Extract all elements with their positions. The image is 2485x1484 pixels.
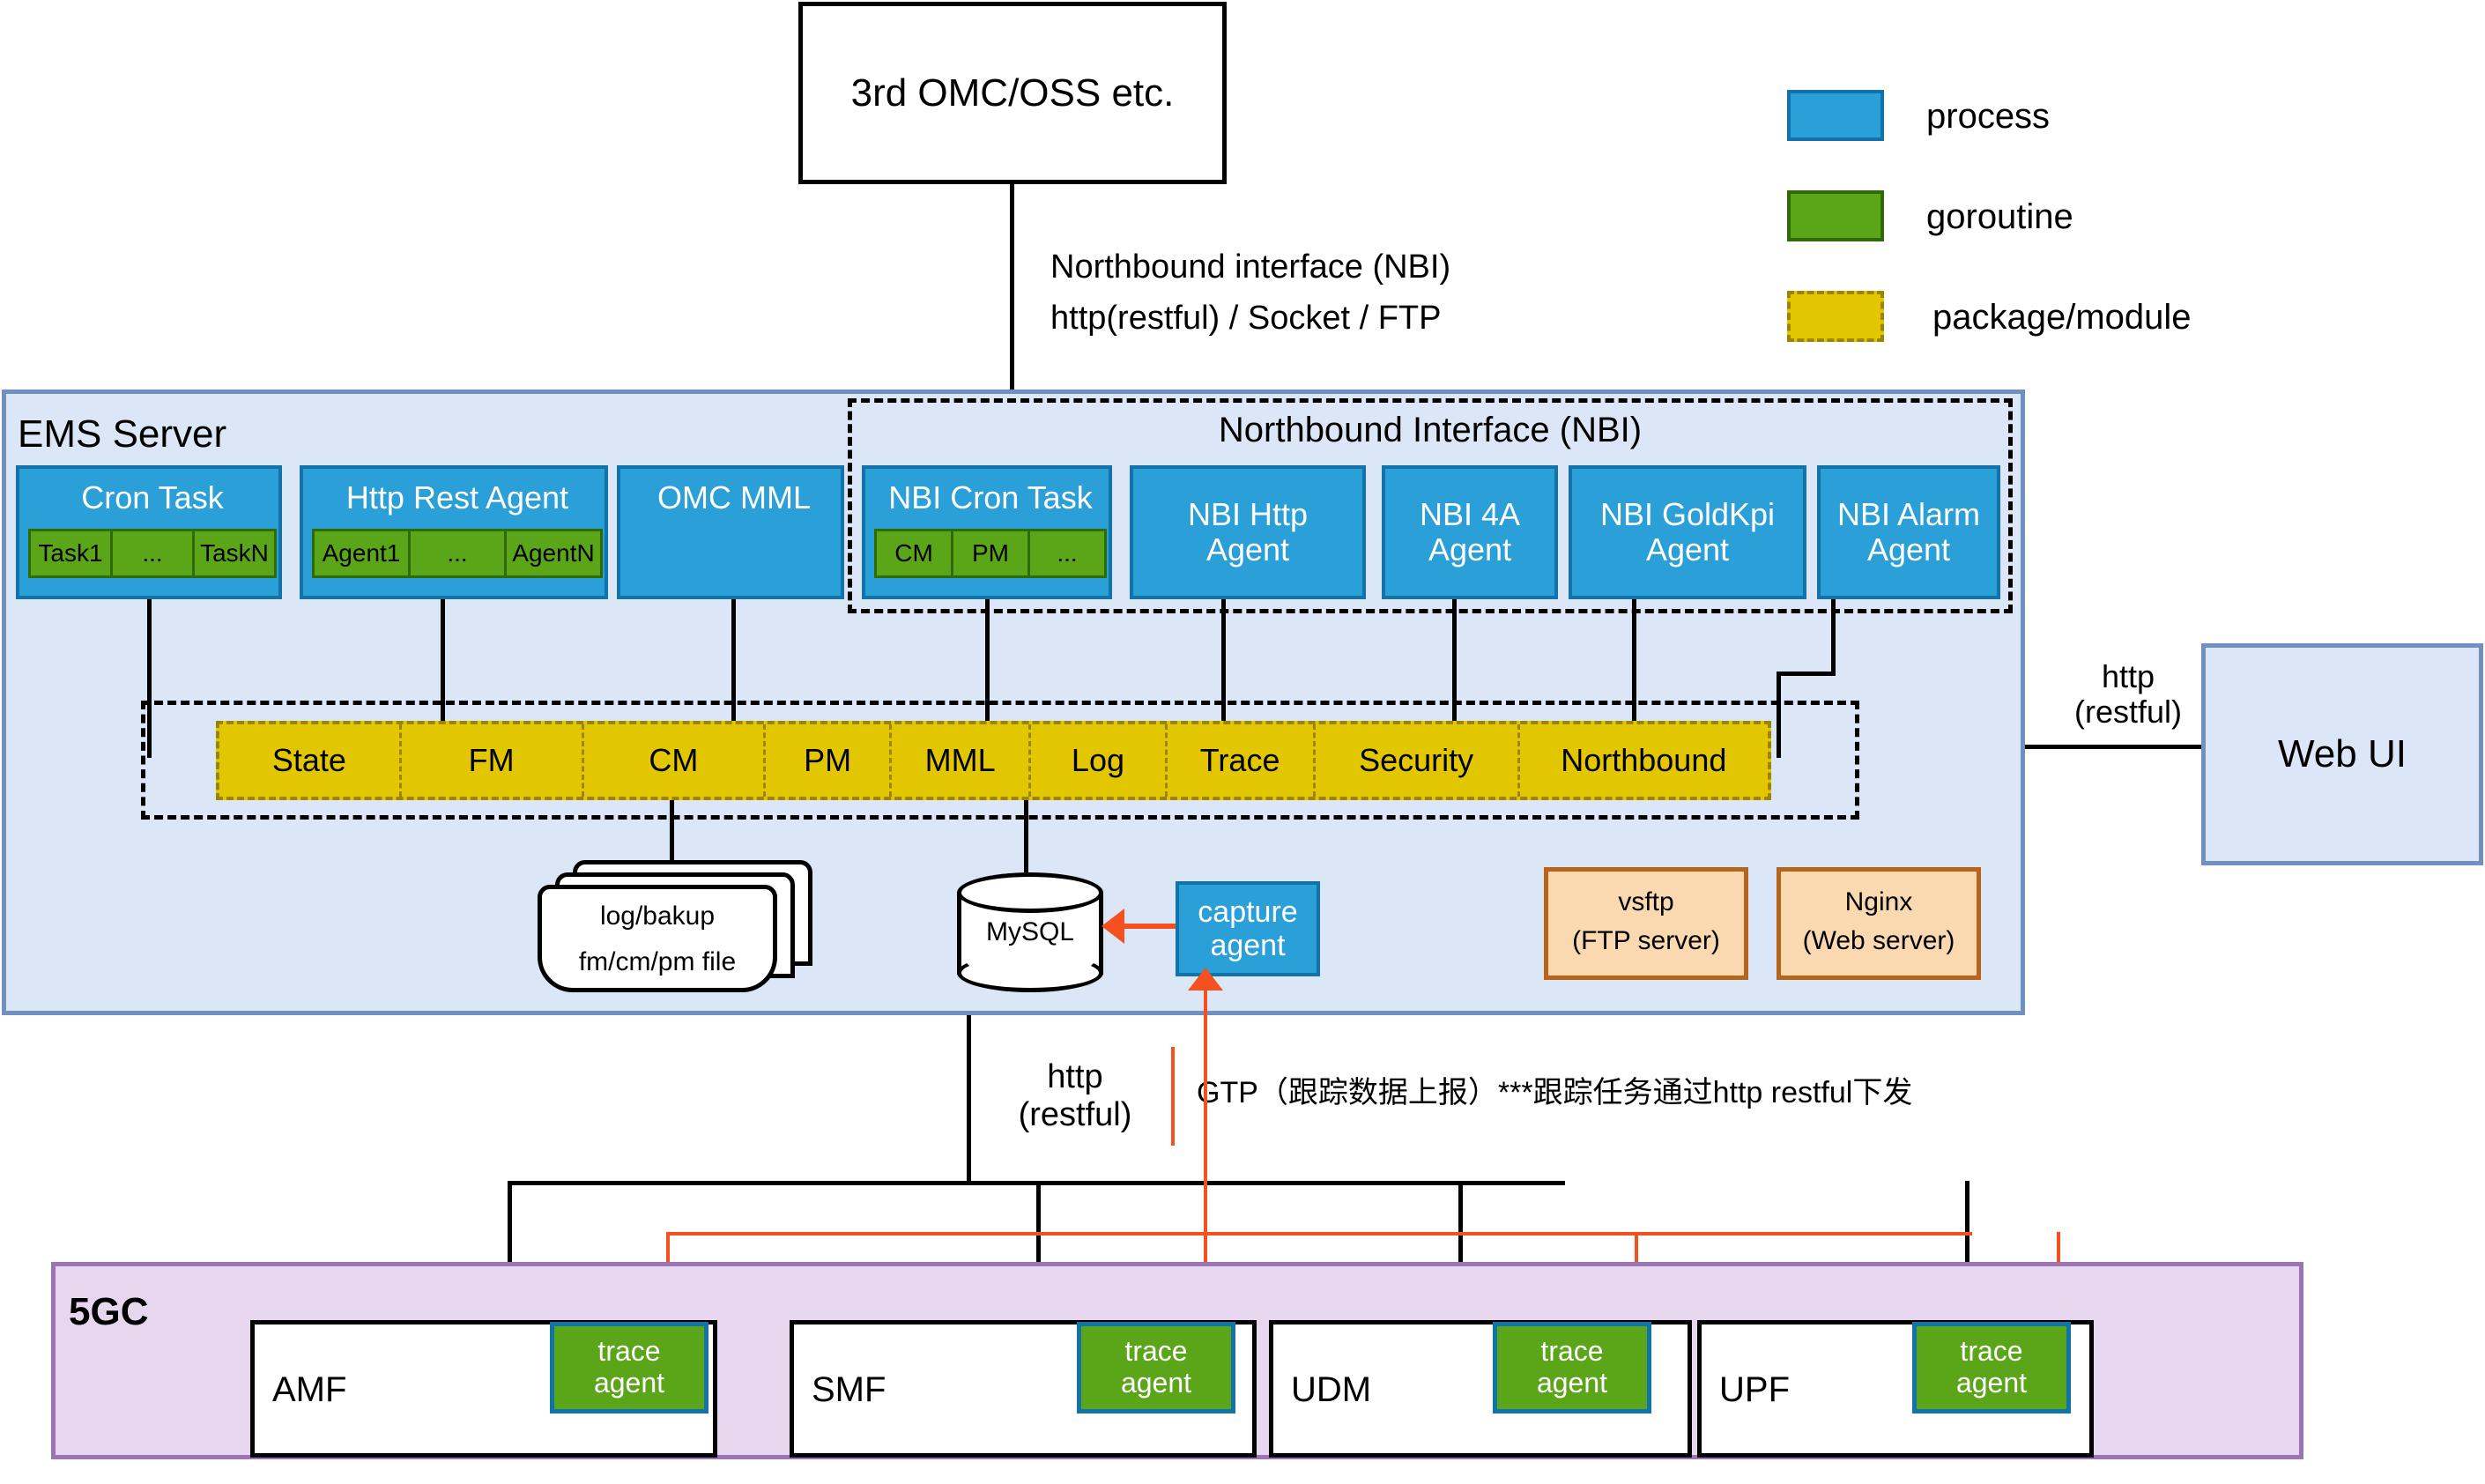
goroutine-agentn[interactable]: AgentN: [507, 529, 603, 578]
goroutine-agent-ellipsis[interactable]: ...: [411, 529, 507, 578]
external-oss-box: 3rd OMC/OSS etc.: [798, 2, 1227, 184]
goroutine-task1[interactable]: Task1: [28, 529, 113, 578]
connector-modules-to-mysql: [1024, 800, 1028, 872]
process-cron-task-label: Cron Task: [19, 476, 286, 520]
module-bar: State FM CM PM MML Log Trace Security No…: [216, 721, 1771, 800]
connector-nbi-alarm-agent-segment-left: [1777, 672, 1836, 676]
process-nbi-cron-task[interactable]: NBI Cron Task CM PM ...: [862, 465, 1112, 599]
file-stack-icon: log/bakup fm/cm/pm file: [536, 860, 818, 992]
goroutine-row-cron-task: Task1 ... TaskN: [28, 529, 277, 578]
module-fm[interactable]: FM: [402, 724, 584, 797]
nf-smf-label: SMF: [812, 1370, 886, 1410]
core-5gc-title: 5GC: [69, 1290, 148, 1334]
trace-agent-amf-label: trace agent: [594, 1336, 664, 1399]
connector-oss-to-nbi: [1010, 184, 1014, 393]
nf-udm-label: UDM: [1291, 1370, 1371, 1410]
process-omc-mml[interactable]: OMC MML: [617, 465, 844, 599]
capture-to-mysql-arrow-head: [1102, 909, 1124, 944]
server-nginx[interactable]: Nginx (Web server): [1777, 867, 1981, 980]
process-http-rest-agent[interactable]: Http Rest Agent Agent1 ... AgentN: [300, 465, 608, 599]
server-vsftp-line2: (FTP server): [1548, 926, 1744, 956]
nf-upf-label: UPF: [1719, 1370, 1790, 1410]
server-nginx-line1: Nginx: [1781, 887, 1977, 917]
process-nbi-4a-agent-label: NBI 4A Agent: [1420, 497, 1520, 568]
goroutine-nbi-ellipsis[interactable]: ...: [1030, 529, 1107, 578]
module-mml[interactable]: MML: [892, 724, 1031, 797]
legend-swatch-goroutine: [1787, 190, 1884, 241]
legend-label-process: process: [1926, 97, 2050, 137]
ems-server-title: EMS Server: [18, 412, 226, 456]
process-nbi-goldkpi-agent-label: NBI GoldKpi Agent: [1600, 497, 1775, 568]
module-trace[interactable]: Trace: [1168, 724, 1316, 797]
trace-agent-udm-label: trace agent: [1537, 1336, 1607, 1399]
server-vsftp[interactable]: vsftp (FTP server): [1544, 867, 1748, 980]
process-http-rest-agent-label: Http Rest Agent: [303, 476, 612, 520]
connector-modules-to-file-stack: [670, 800, 674, 860]
process-nbi-goldkpi-agent[interactable]: NBI GoldKpi Agent: [1569, 465, 1806, 599]
process-nbi-alarm-agent[interactable]: NBI Alarm Agent: [1817, 465, 2000, 599]
connector-ems-to-webui: [2025, 745, 2201, 749]
legend-swatch-process: [1787, 90, 1884, 141]
mysql-label: MySQL: [957, 916, 1103, 948]
nbi-link-label-line1: Northbound interface (NBI): [1050, 249, 1450, 286]
external-oss-label: 3rd OMC/OSS etc.: [851, 71, 1175, 115]
trace-agent-smf[interactable]: trace agent: [1077, 1322, 1235, 1414]
trace-riser-to-capture: [1204, 976, 1207, 1234]
mysql-cylinder-bottom: [957, 953, 1103, 992]
goroutine-row-http-rest-agent: Agent1 ... AgentN: [312, 529, 603, 578]
legend-swatch-package: [1787, 291, 1884, 342]
module-northbound[interactable]: Northbound: [1520, 724, 1768, 797]
module-security[interactable]: Security: [1316, 724, 1520, 797]
module-log[interactable]: Log: [1031, 724, 1167, 797]
module-state[interactable]: State: [219, 724, 402, 797]
process-capture-agent-label: capture agent: [1198, 895, 1297, 962]
connector-nbi-alarm-agent-segment-down1: [1831, 599, 1836, 675]
process-nbi-4a-agent[interactable]: NBI 4A Agent: [1382, 465, 1558, 599]
trace-agent-upf[interactable]: trace agent: [1912, 1322, 2071, 1414]
gtp-annotation-label: GTP（跟踪数据上报）***跟踪任务通过http restful下发: [1197, 1068, 2096, 1111]
goroutine-pm[interactable]: PM: [953, 529, 1030, 578]
server-vsftp-line1: vsftp: [1548, 887, 1744, 917]
process-nbi-http-agent[interactable]: NBI Http Agent: [1130, 465, 1366, 599]
trace-bus-horizontal: [666, 1232, 1972, 1235]
trace-riser-arrow-head: [1188, 968, 1223, 991]
nf-amf-label: AMF: [272, 1370, 346, 1410]
webui-label: Web UI: [2278, 732, 2407, 775]
file-stack-label-line1: log/bakup: [538, 901, 777, 932]
goroutine-row-nbi-cron-task: CM PM ...: [874, 529, 1107, 578]
module-pm[interactable]: PM: [766, 724, 892, 797]
goroutine-taskn[interactable]: TaskN: [195, 529, 277, 578]
file-stack-label-line2: fm/cm/pm file: [538, 946, 777, 978]
process-nbi-alarm-agent-label: NBI Alarm Agent: [1837, 497, 1980, 568]
legend-label-goroutine: goroutine: [1926, 197, 2073, 237]
legend-label-package: package/module: [1932, 298, 2192, 338]
webui-link-label: http (restful): [2050, 649, 2207, 740]
mysql-database-icon: MySQL: [957, 872, 1103, 994]
process-capture-agent[interactable]: capture agent: [1176, 881, 1320, 976]
goroutine-agent1[interactable]: Agent1: [312, 529, 411, 578]
process-nbi-cron-task-label: NBI Cron Task: [865, 476, 1116, 520]
nbi-group-title: Northbound Interface (NBI): [848, 409, 2013, 451]
trace-agent-smf-label: trace agent: [1121, 1336, 1191, 1399]
goroutine-cm[interactable]: CM: [874, 529, 953, 578]
gtp-annotation-divider: [1171, 1047, 1175, 1146]
module-cm[interactable]: CM: [584, 724, 767, 797]
southbound-http-label: http (restful): [987, 1050, 1163, 1142]
process-nbi-http-agent-label: NBI Http Agent: [1188, 497, 1308, 568]
legend: process goroutine package/module: [1787, 90, 2404, 328]
nbi-link-label-line2: http(restful) / Socket / FTP: [1050, 300, 1441, 338]
process-omc-mml-label: OMC MML: [620, 476, 848, 520]
trace-agent-udm[interactable]: trace agent: [1493, 1322, 1651, 1414]
mysql-cylinder-top: [957, 872, 1103, 913]
goroutine-task-ellipsis[interactable]: ...: [113, 529, 195, 578]
trace-agent-upf-label: trace agent: [1956, 1336, 2027, 1399]
webui-box[interactable]: Web UI: [2201, 643, 2483, 865]
server-nginx-line2: (Web server): [1781, 926, 1977, 956]
connector-ems-to-5gc-trunk: [967, 1015, 971, 1183]
process-cron-task[interactable]: Cron Task Task1 ... TaskN: [16, 465, 282, 599]
trace-agent-amf[interactable]: trace agent: [550, 1322, 708, 1414]
